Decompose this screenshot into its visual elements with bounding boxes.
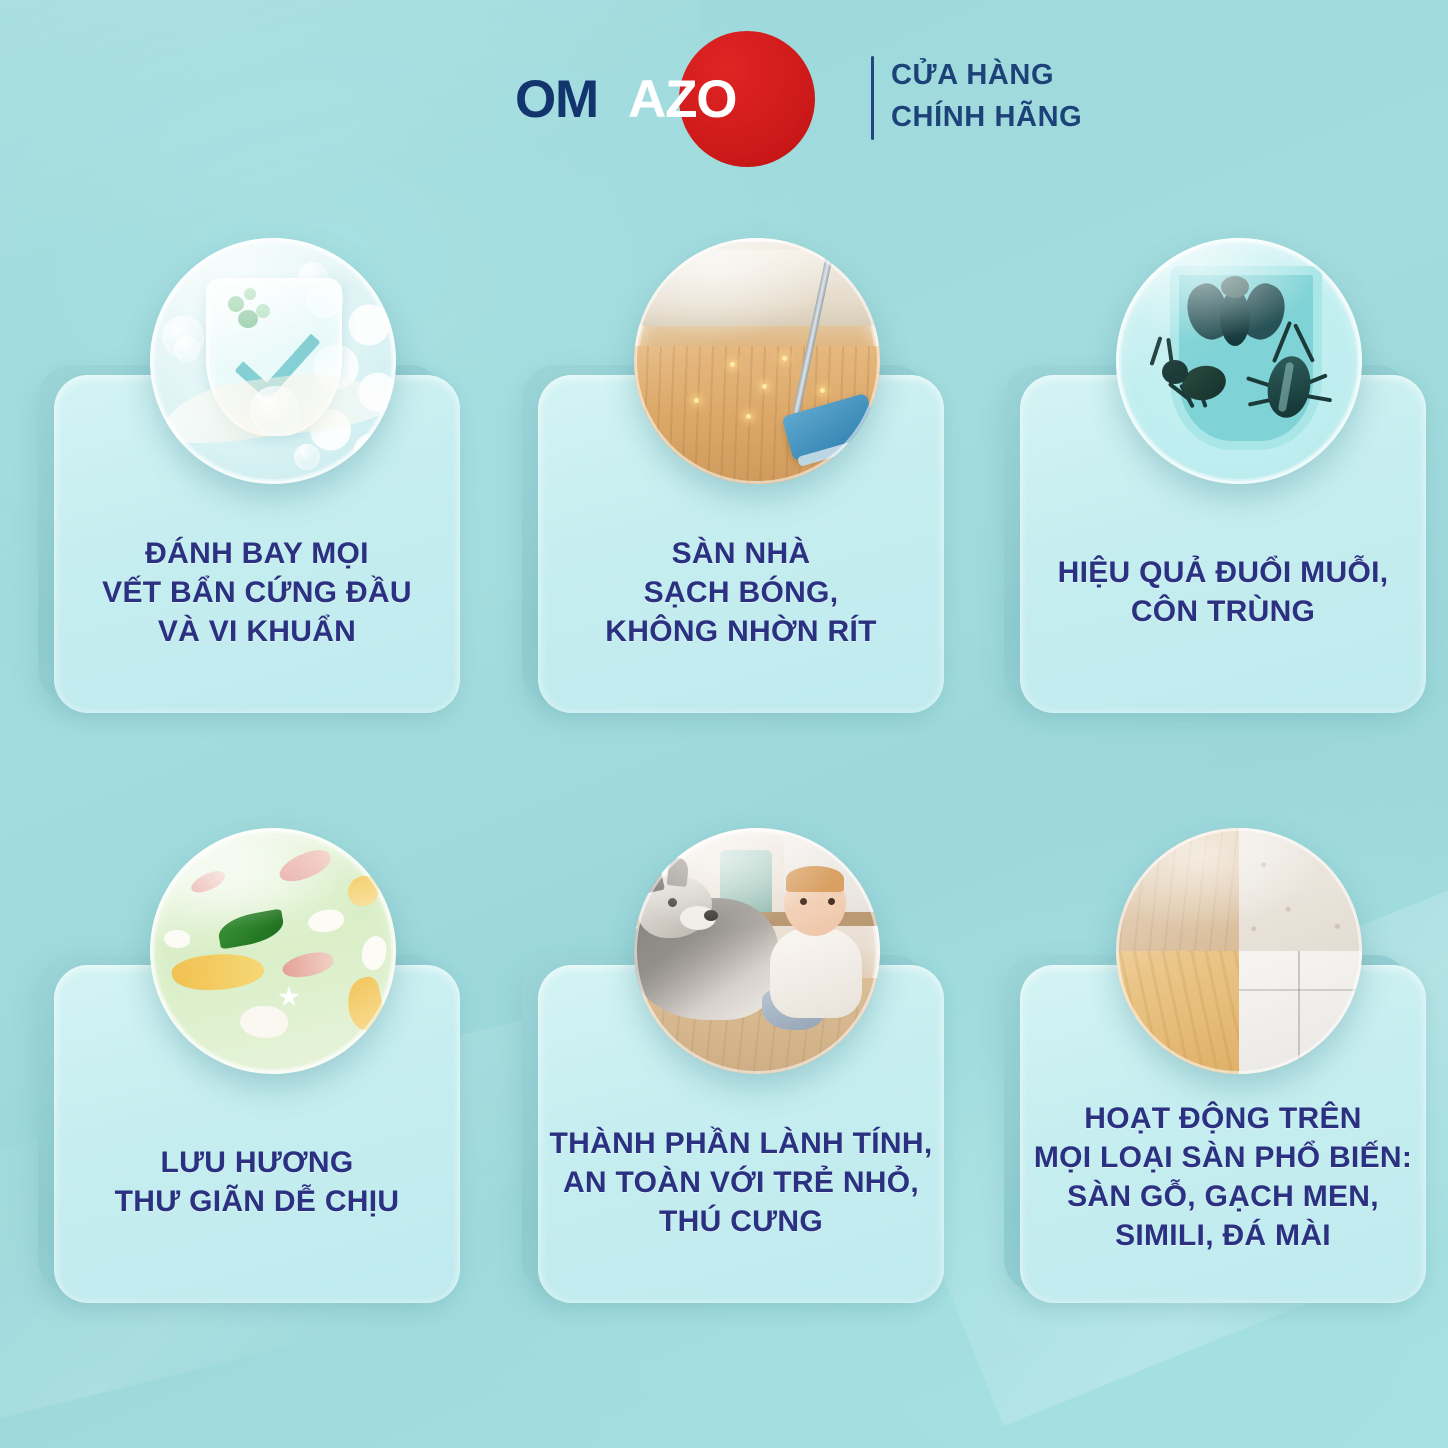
petal bbox=[280, 948, 336, 982]
petal bbox=[275, 844, 334, 888]
dog-ear bbox=[667, 857, 690, 887]
floor-wood-golden bbox=[1116, 951, 1239, 1074]
caption-line: LƯU HƯƠNG bbox=[54, 1143, 460, 1182]
caption-line: SIMILI, ĐÁ MÀI bbox=[1020, 1216, 1426, 1255]
sparkle bbox=[730, 362, 735, 367]
fly-head bbox=[1221, 276, 1249, 298]
dog-eye bbox=[668, 898, 677, 907]
infographic-canvas: OM AZO CỬA HÀNG CHÍNH HÃNG ĐÁNH BAY MỌI … bbox=[0, 0, 1448, 1448]
caption-line: KHÔNG NHỜN RÍT bbox=[538, 612, 944, 651]
sparkle bbox=[694, 398, 699, 403]
baby-body bbox=[770, 928, 862, 1018]
brand-header: OM AZO CỬA HÀNG CHÍNH HÃNG bbox=[0, 28, 1448, 168]
white-petal bbox=[306, 906, 346, 935]
caption-line: VẾT BẨN CỨNG ĐẦU bbox=[54, 573, 460, 612]
floor-wood-light bbox=[1116, 828, 1239, 951]
logo-divider bbox=[871, 56, 874, 140]
shield-check-bubble-icon bbox=[150, 238, 396, 484]
caption-line: VÀ VI KHUẨN bbox=[54, 612, 460, 651]
feature-card-3[interactable]: HIỆU QUẢ ĐUỔI MUỖI, CÔN TRÙNG bbox=[998, 232, 1448, 752]
white-petal bbox=[164, 930, 190, 948]
feature-card-1[interactable]: ĐÁNH BAY MỌI VẾT BẨN CỨNG ĐẦU VÀ VI KHUẨ… bbox=[32, 232, 514, 752]
baby-hair bbox=[786, 866, 844, 892]
white-petal bbox=[240, 1006, 288, 1038]
tagline-line-2: CHÍNH HÃNG bbox=[891, 96, 1131, 138]
caption-line: AN TOÀN VỚI TRẺ NHỎ, bbox=[538, 1163, 944, 1202]
caption-line: HIỆU QUẢ ĐUỔI MUỖI, bbox=[1020, 553, 1426, 592]
caption-line: SÀN NHÀ bbox=[538, 534, 944, 573]
sparkle bbox=[782, 356, 787, 361]
caption-line: ĐÁNH BAY MỌI bbox=[54, 534, 460, 573]
logo-word-azo: AZO bbox=[628, 72, 736, 128]
caption-line: SÀN GỖ, GẠCH MEN, bbox=[1020, 1177, 1426, 1216]
caption-line: CÔN TRÙNG bbox=[1020, 592, 1426, 631]
bubble bbox=[298, 262, 328, 292]
white-petal bbox=[358, 934, 390, 973]
floor-types-quadrant-icon bbox=[1116, 828, 1362, 1074]
fragrance-botanical-icon bbox=[150, 828, 396, 1074]
insect-shield-icon bbox=[1116, 238, 1362, 484]
jasmine-flower bbox=[278, 986, 300, 1008]
bubble bbox=[250, 386, 300, 436]
feature-card-4[interactable]: LƯU HƯƠNG THƯ GIÃN DỄ CHỊU bbox=[32, 822, 514, 1342]
logo-tagline: CỬA HÀNG CHÍNH HÃNG bbox=[891, 54, 1131, 138]
caption-line: HOẠT ĐỘNG TRÊN bbox=[1020, 1099, 1426, 1138]
caption-line: THÚ CƯNG bbox=[538, 1202, 944, 1241]
feature-card-6[interactable]: HOẠT ĐỘNG TRÊN MỌI LOẠI SÀN PHỔ BIẾN: SÀ… bbox=[998, 822, 1448, 1342]
baby-eye bbox=[828, 898, 835, 905]
fly-body bbox=[1220, 290, 1250, 346]
citrus-peel bbox=[170, 948, 266, 996]
logo-word-om: OM bbox=[515, 72, 598, 128]
mop-wood-floor-icon bbox=[634, 238, 880, 484]
germ-dot bbox=[256, 304, 270, 318]
sparkle bbox=[820, 388, 825, 393]
green-leaf bbox=[216, 908, 286, 949]
ant-antenna bbox=[1149, 336, 1162, 366]
sparkle bbox=[762, 384, 767, 389]
ant-head bbox=[1162, 360, 1188, 384]
germ-dot bbox=[238, 310, 258, 328]
floor-terrazzo bbox=[1239, 828, 1362, 951]
caption-line: SẠCH BÓNG, bbox=[538, 573, 944, 612]
sparkle bbox=[746, 414, 751, 419]
feature-row-top: ĐÁNH BAY MỌI VẾT BẨN CỨNG ĐẦU VÀ VI KHUẨ… bbox=[0, 232, 1448, 752]
dog-nose bbox=[704, 910, 718, 921]
feature-card-2[interactable]: SÀN NHÀ SẠCH BÓNG, KHÔNG NHỜN RÍT bbox=[516, 232, 998, 752]
germ-dot bbox=[228, 296, 244, 312]
caption-line: THƯ GIÃN DỄ CHỊU bbox=[54, 1182, 460, 1221]
bubble bbox=[174, 336, 200, 362]
baby-pet-safe-icon bbox=[634, 828, 880, 1074]
baby-eye bbox=[800, 898, 807, 905]
caption-line: THÀNH PHẦN LÀNH TÍNH, bbox=[538, 1124, 944, 1163]
tagline-line-1: CỬA HÀNG bbox=[891, 54, 1131, 96]
dog-ear bbox=[637, 860, 665, 894]
citrus-slice bbox=[348, 876, 378, 906]
sofa bbox=[640, 242, 876, 326]
bubble bbox=[294, 444, 320, 470]
floor-tile-white bbox=[1239, 951, 1362, 1074]
caption-line: MỌI LOẠI SÀN PHỔ BIẾN: bbox=[1020, 1138, 1426, 1177]
omazo-logo: OM AZO CỬA HÀNG CHÍNH HÃNG bbox=[505, 28, 945, 168]
germ-dot bbox=[244, 288, 256, 300]
feature-card-5[interactable]: THÀNH PHẦN LÀNH TÍNH, AN TOÀN VỚI TRẺ NH… bbox=[516, 822, 998, 1342]
feature-row-bottom: LƯU HƯƠNG THƯ GIÃN DỄ CHỊU bbox=[0, 822, 1448, 1342]
petal bbox=[188, 867, 227, 897]
